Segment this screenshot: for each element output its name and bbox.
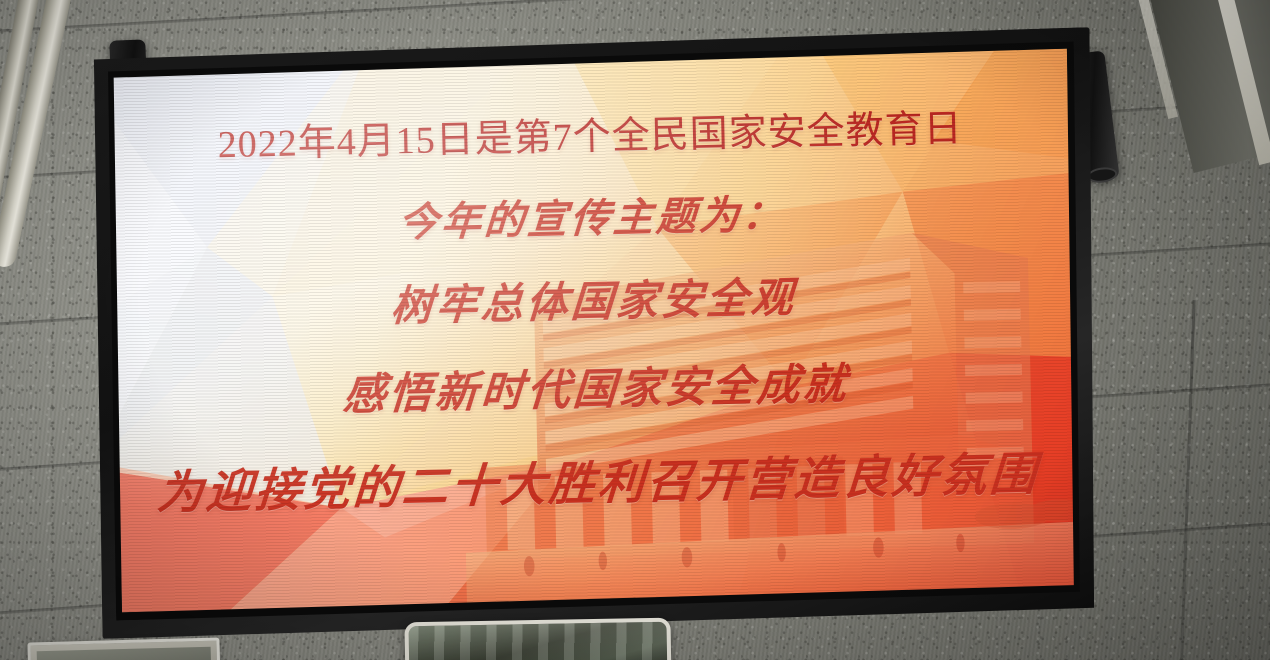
wall-plaque[interactable] (27, 637, 220, 660)
headline-line-4: 感悟新时代国家安全成就 (341, 349, 851, 422)
glass-sign-panel[interactable] (404, 618, 671, 660)
plaque-face (37, 647, 212, 660)
display-text-block: 2022年4月15日是第7个全民国家安全教育日 今年的宣传主题为： 树牢总体国家… (110, 49, 1079, 613)
headline-line-1: 2022年4月15日是第7个全民国家安全教育日 (217, 97, 963, 168)
headline-line-5: 为迎接党的二十大胜利召开营造良好氛围 (155, 437, 1041, 522)
headline-line-2: 今年的宣传主题为： (397, 182, 788, 249)
headline-line-3: 树牢总体国家安全观 (389, 264, 798, 334)
glass-reflection (409, 622, 668, 660)
photo-scene: 2022年4月15日是第7个全民国家安全教育日 今年的宣传主题为： 树牢总体国家… (0, 0, 1270, 660)
led-display-assembly[interactable]: 2022年4月15日是第7个全民国家安全教育日 今年的宣传主题为： 树牢总体国家… (90, 27, 1103, 639)
display-surface[interactable]: 2022年4月15日是第7个全民国家安全教育日 今年的宣传主题为： 树牢总体国家… (110, 49, 1079, 613)
